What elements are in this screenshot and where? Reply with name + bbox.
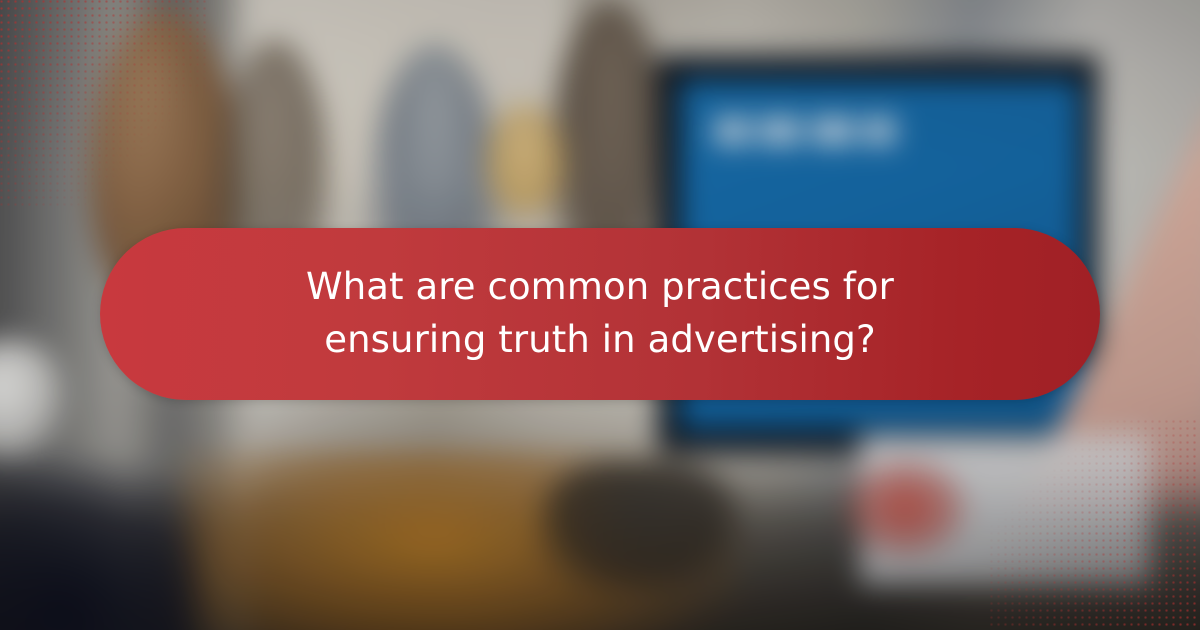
question-pill: What are common practices for ensuring t… (100, 228, 1100, 400)
question-text: What are common practices for ensuring t… (220, 261, 980, 366)
quote-card: What are common practices for ensuring t… (0, 0, 1200, 630)
